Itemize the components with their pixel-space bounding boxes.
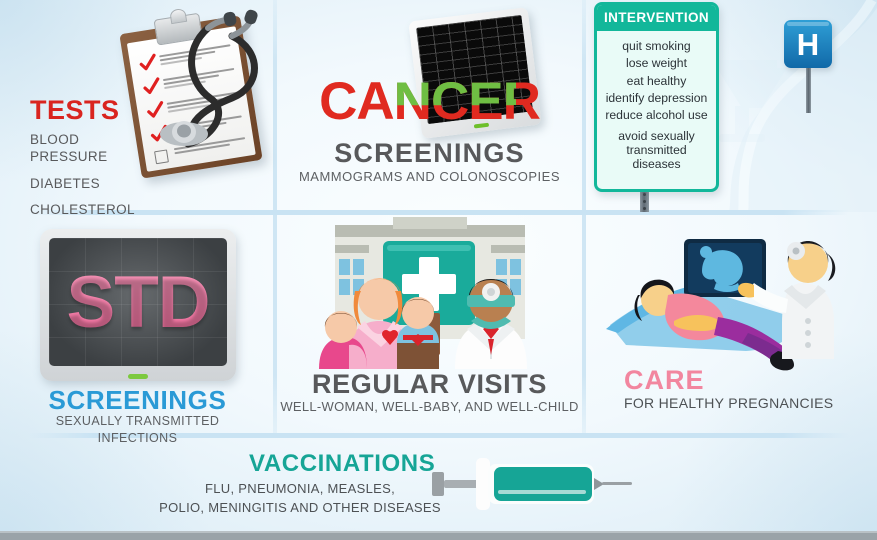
- road-sign-icon: INTERVENTION quit smoking lose weight ea…: [594, 2, 719, 192]
- tests-item: BLOOD: [30, 131, 135, 148]
- care-title: CARE: [624, 365, 705, 396]
- panel-intervention: INTERVENTION quit smoking lose weight ea…: [584, 0, 877, 212]
- visits-caption: WELL-WOMAN, WELL-BABY, AND WELL-CHILD: [275, 399, 584, 414]
- std-word: STD: [49, 238, 227, 366]
- clinic-family-doctor-icon: [305, 217, 555, 369]
- syringe-icon: [432, 452, 632, 514]
- panel-std-screenings: STD SCREENINGS SEXUALLY TRANSMITTED INFE…: [0, 217, 275, 435]
- ultrasound-pregnancy-icon: [596, 233, 866, 373]
- std-title: SCREENINGS: [0, 385, 275, 416]
- tests-title: TESTS: [30, 97, 135, 124]
- sign-item: eat healthy: [603, 73, 710, 90]
- tests-text-block: TESTS BLOOD PRESSURE DIABETES CHOLESTERO…: [30, 97, 135, 218]
- panel-regular-visits: REGULAR VISITS WELL-WOMAN, WELL-BABY, AN…: [275, 217, 584, 435]
- sign-item: identify depression: [603, 90, 710, 107]
- tests-item: PRESSURE: [30, 148, 135, 165]
- sign-header: INTERVENTION: [597, 5, 716, 31]
- stethoscope-icon: [112, 6, 292, 184]
- hospital-letter: H: [784, 20, 832, 68]
- care-caption: FOR HEALTHY PREGNANCIES: [624, 395, 833, 411]
- vaccinations-title: VACCINATIONS: [249, 450, 435, 478]
- bottom-bar: [0, 531, 877, 540]
- sign-item: avoid sexually transmitted diseases: [603, 129, 710, 172]
- sign-item-list: quit smoking lose weight eat healthy ide…: [597, 31, 716, 176]
- panel-care: CARE FOR HEALTHY PREGNANCIES: [584, 217, 877, 435]
- visits-title: REGULAR VISITS: [275, 369, 584, 400]
- sign-item: lose weight: [603, 55, 710, 72]
- sign-item: quit smoking: [603, 38, 710, 55]
- panel-tests: TESTS BLOOD PRESSURE DIABETES CHOLESTERO…: [0, 0, 275, 212]
- cancer-caption: MAMMOGRAMS AND COLONOSCOPIES: [275, 169, 584, 184]
- monitor-screen-icon: STD: [40, 229, 236, 381]
- infographic-canvas: TESTS BLOOD PRESSURE DIABETES CHOLESTERO…: [0, 0, 877, 540]
- sign-item: reduce alcohol use: [603, 107, 710, 124]
- std-subtitle-line1: SEXUALLY TRANSMITTED: [0, 413, 275, 430]
- tests-item: CHOLESTEROL: [30, 201, 135, 218]
- tests-list: BLOOD PRESSURE DIABETES CHOLESTEROL: [30, 131, 135, 218]
- panel-cancer-screenings: CANCER CANCER SCREENINGS MAMMOGRAMS AND …: [275, 0, 584, 212]
- tests-item: DIABETES: [30, 175, 135, 192]
- cancer-subtitle: SCREENINGS: [275, 138, 584, 169]
- clipboard-stethoscope-icon: [112, 6, 292, 184]
- hospital-sign-icon: H: [774, 20, 848, 120]
